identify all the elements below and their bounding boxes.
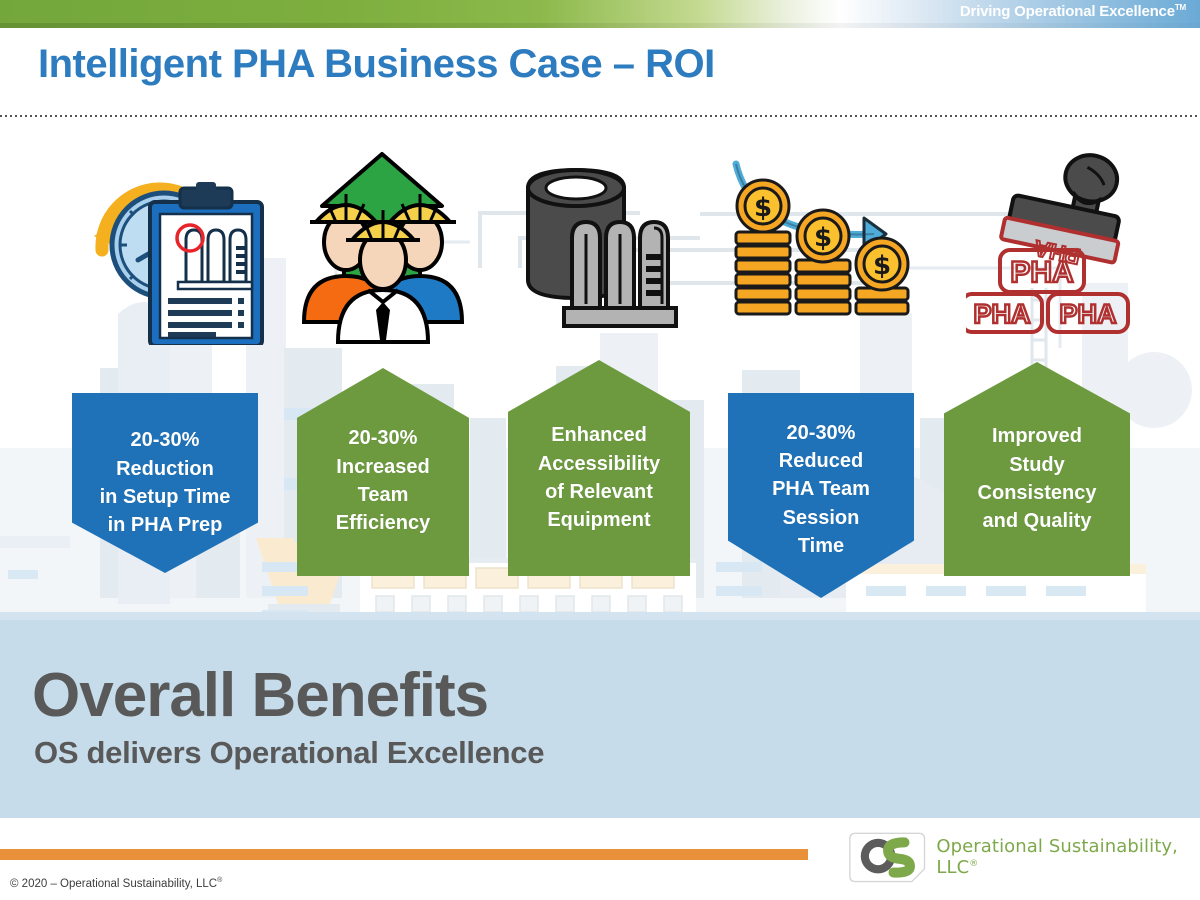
slide-root: Driving Operational ExcellenceTM Intelli… [0,0,1200,900]
tagline-text: Driving Operational Excellence [960,3,1175,20]
banner-line: Efficiency [336,509,430,537]
banner-line: 20-30% [100,426,231,454]
banner-equipment-accessibility[interactable]: Enhanced Accessibility of Relevant Equip… [508,360,690,576]
company-logo: Operational Sustainability, LLC® [848,828,1200,886]
banner-line: Study [978,451,1097,479]
trademark-mark: TM [1175,3,1186,12]
banner-line: in PHA Prep [100,511,231,539]
title-divider [0,115,1200,117]
registered-mark: ® [217,877,222,884]
os-logo-mark [848,828,926,886]
banner-line: Reduced [772,447,870,475]
logo-text: Operational Sustainability, LLC® [936,836,1200,878]
banner-line: of Relevant [538,478,660,506]
banner-line: 20-30% [772,419,870,447]
banner-line: PHA Team [772,475,870,503]
tagline: Driving Operational ExcellenceTM [960,3,1186,20]
summary-heading: Overall Benefits [32,660,488,731]
benefit-banner-row: 20-30% Reduction in Setup Time in PHA Pr… [0,118,1200,620]
banner-line: and Quality [978,507,1097,535]
banner-line: Accessibility [538,450,660,478]
banner-line: Improved [978,422,1097,450]
copyright-label: © 2020 – Operational Sustainability, LLC [10,878,217,890]
banner-team-efficiency[interactable]: 20-30% Increased Team Efficiency [297,368,469,576]
summary-subheading: OS delivers Operational Excellence [34,735,544,771]
banner-reduction-setup-time[interactable]: 20-30% Reduction in Setup Time in PHA Pr… [72,393,258,573]
logo-company-name: Operational Sustainability, LLC [936,836,1178,878]
banner-line: Session [772,504,870,532]
banner-line: Team [336,481,430,509]
banner-study-consistency[interactable]: Improved Study Consistency and Quality [944,362,1130,576]
footer-accent-bar [0,849,808,860]
banner-line: Consistency [978,479,1097,507]
banner-reduced-session-time[interactable]: 20-30% Reduced PHA Team Session Time [728,393,914,598]
banner-line: Time [772,532,870,560]
banner-line: Reduction [100,455,231,483]
copyright-text: © 2020 – Operational Sustainability, LLC… [10,877,222,890]
banner-line: Increased [336,453,430,481]
banner-line: 20-30% [336,424,430,452]
banner-line: in Setup Time [100,483,231,511]
logo-registered-mark: ® [969,859,978,869]
page-title: Intelligent PHA Business Case – ROI [38,42,715,87]
banner-line: Equipment [538,506,660,534]
banner-line: Enhanced [538,421,660,449]
